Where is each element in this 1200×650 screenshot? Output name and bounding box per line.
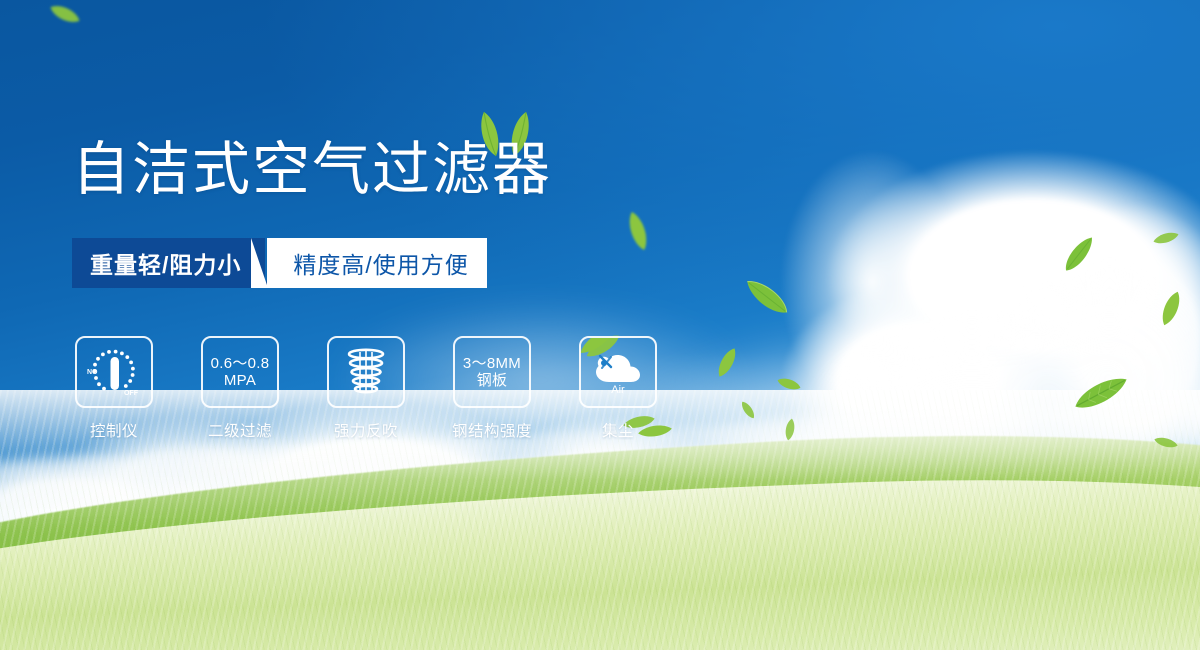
pressure-text-icon: 0.6～0.8MPA [201, 336, 279, 408]
product-banner: 自洁式空气过滤器 重量轻/阻力小 精度高/使用方便 [0, 0, 1200, 650]
feature-item-control-gauge[interactable]: NO OFF 控制仪 [72, 336, 156, 441]
spiral-coil-icon [327, 336, 405, 408]
page-title: 自洁式空气过滤器 [72, 141, 552, 199]
steel-value: 3～8MM钢板 [463, 355, 521, 390]
feature-item-two-stage-filter[interactable]: 0.6～0.8MPA 二级过滤 [198, 336, 282, 441]
feature-label: 强力反吹 [334, 419, 398, 441]
feature-item-strong-backflush[interactable]: 强力反吹 [324, 336, 408, 441]
feature-list: NO OFF 控制仪 0.6～0.8MPA 二级过滤 [72, 336, 660, 441]
feature-label: 钢结构强度 [452, 419, 532, 441]
subtitle-left: 重量轻/阻力小 [72, 238, 265, 288]
cloud-air-icon: Air [579, 336, 657, 408]
feature-label: 集尘 [602, 419, 634, 441]
pressure-value: 0.6～0.8MPA [211, 355, 270, 390]
feature-label: 控制仪 [90, 419, 138, 441]
subtitle-right: 精度高/使用方便 [267, 238, 486, 288]
gauge-dial-icon: NO OFF [75, 336, 153, 408]
feature-label: 二级过滤 [208, 419, 272, 441]
svg-text:NO: NO [87, 369, 98, 376]
steel-plate-text-icon: 3～8MM钢板 [453, 336, 531, 408]
svg-text:Air: Air [611, 384, 625, 396]
subtitle-bar: 重量轻/阻力小 精度高/使用方便 [72, 238, 487, 288]
feature-item-steel-strength[interactable]: 3～8MM钢板 钢结构强度 [450, 336, 534, 441]
svg-text:OFF: OFF [124, 390, 139, 397]
